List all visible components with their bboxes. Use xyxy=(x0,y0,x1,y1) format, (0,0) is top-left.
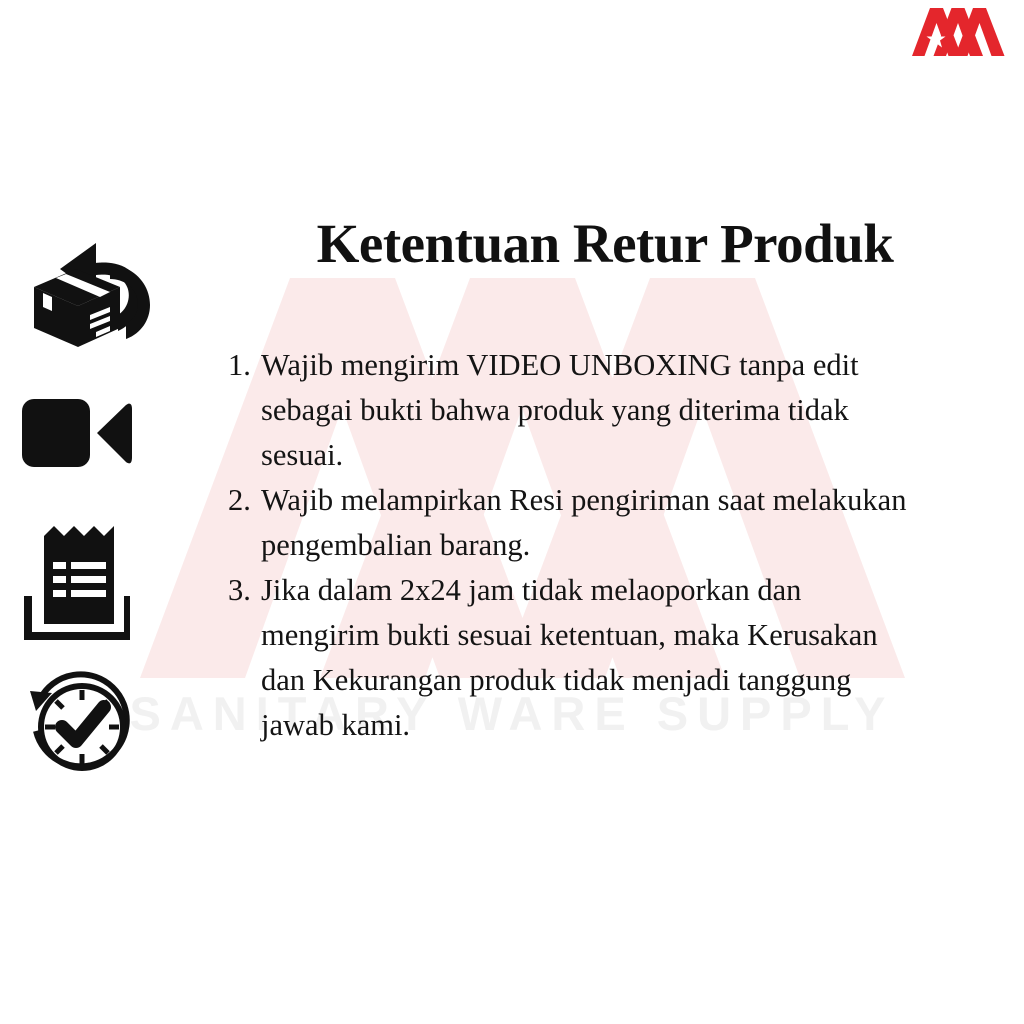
list-item-line: pengembalian barang. xyxy=(261,523,988,568)
icon-slot-video-camera xyxy=(22,360,172,505)
list-item: Wajib melampirkan Resi pengiriman saat m… xyxy=(228,478,988,568)
return-policy-card: SANITARY WARE SUPPLY Ketentuan Retur Pro… xyxy=(0,0,1024,1024)
terms-list-wrapper: Wajib mengirim VIDEO UNBOXING tanpa edit… xyxy=(228,343,988,748)
list-item-line: Wajib mengirim VIDEO UNBOXING tanpa edit xyxy=(261,343,988,388)
am-logo-icon xyxy=(912,6,1008,58)
receipt-icon xyxy=(22,520,130,640)
list-item-line: mengirim bukti sesuai ketentuan, maka Ke… xyxy=(261,613,988,658)
icon-column xyxy=(22,215,182,795)
icon-slot-clock-check xyxy=(22,655,172,795)
icon-slot-receipt xyxy=(22,505,172,655)
list-item-line: dan Kekurangan produk tidak menjadi tang… xyxy=(261,658,988,703)
page-title: Ketentuan Retur Produk xyxy=(225,214,985,274)
return-package-icon xyxy=(22,229,156,347)
list-item-line: jawab kami. xyxy=(261,703,988,748)
video-camera-icon xyxy=(22,397,132,469)
clock-check-icon xyxy=(22,669,134,781)
list-item-line: sesuai. xyxy=(261,433,988,478)
icon-slot-return-package xyxy=(22,215,172,360)
list-item-line: sebagai bukti bahwa produk yang diterima… xyxy=(261,388,988,433)
list-item: Wajib mengirim VIDEO UNBOXING tanpa edit… xyxy=(228,343,988,478)
list-item-line: Jika dalam 2x24 jam tidak melaoporkan da… xyxy=(261,568,988,613)
terms-list: Wajib mengirim VIDEO UNBOXING tanpa edit… xyxy=(228,343,988,748)
list-item-line: Wajib melampirkan Resi pengiriman saat m… xyxy=(261,478,988,523)
list-item: Jika dalam 2x24 jam tidak melaoporkan da… xyxy=(228,568,988,748)
